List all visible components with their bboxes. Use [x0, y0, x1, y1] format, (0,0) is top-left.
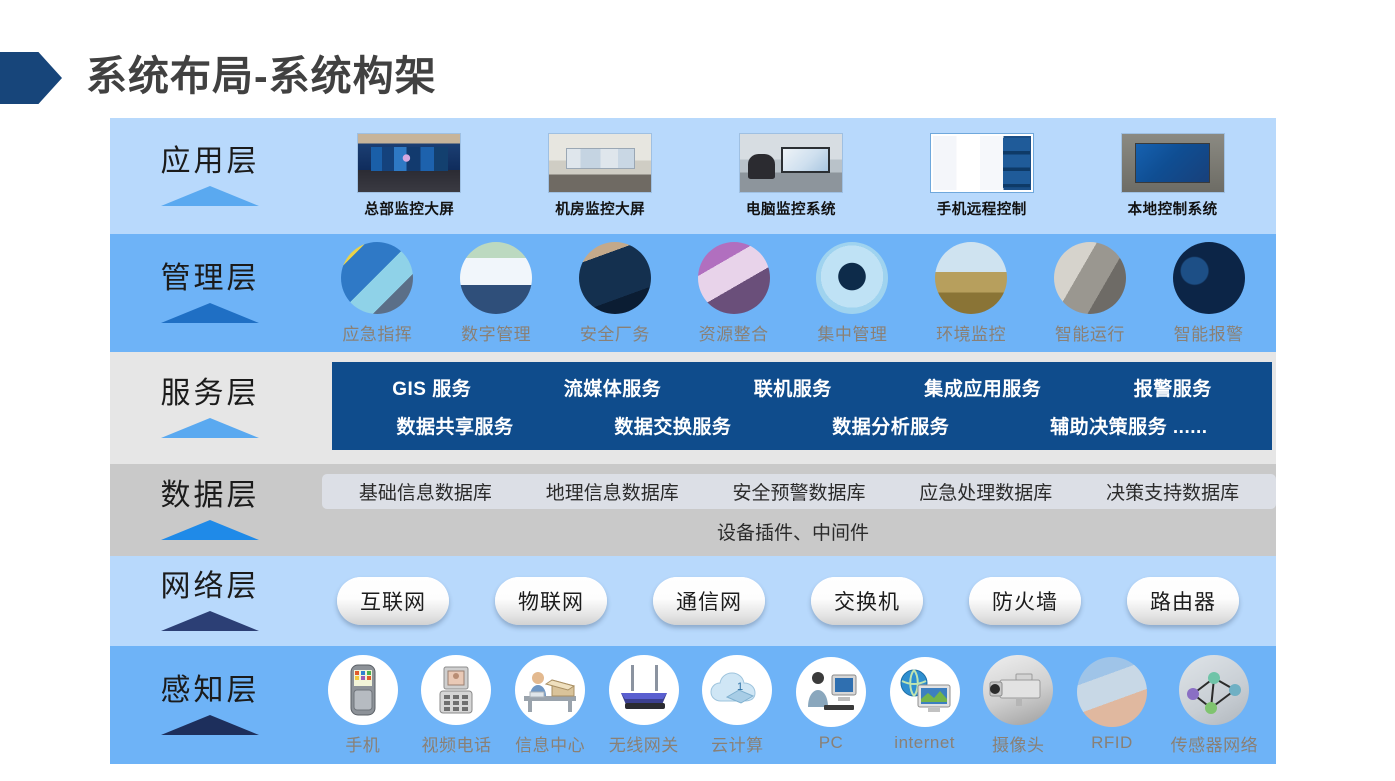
layer-application: 应用层 总部监控大屏 机房监控大屏 电脑监控系统 手机远程 [110, 118, 1276, 234]
service-item[interactable]: 数据交换服务 [614, 412, 731, 439]
app-item[interactable]: 本地控制系统 [1088, 133, 1258, 219]
safety-facility-icon [579, 242, 651, 314]
service-item[interactable]: 辅助决策服务 ...... [1050, 412, 1207, 439]
database-item[interactable]: 安全预警数据库 [732, 478, 865, 505]
perception-item[interactable]: 无线网关 [609, 655, 679, 756]
app-item[interactable]: 机房监控大屏 [515, 133, 685, 219]
network-pill[interactable]: 路由器 [1127, 577, 1239, 625]
internet-globe-icon [890, 657, 960, 727]
database-item[interactable]: 地理信息数据库 [546, 478, 679, 505]
network-pill[interactable]: 防火墙 [969, 577, 1081, 625]
app-item-label: 手机远程控制 [937, 198, 1027, 219]
perception-item[interactable]: 摄像头 [983, 655, 1053, 756]
perception-item-label: 信息中心 [515, 731, 585, 756]
mgmt-item[interactable]: 智能运行 [1054, 242, 1126, 345]
video-phone-icon [421, 655, 491, 725]
network-pill[interactable]: 交换机 [811, 577, 923, 625]
mgmt-item-label: 应急指挥 [342, 320, 412, 345]
app-item[interactable]: 电脑监控系统 [706, 133, 876, 219]
layer-network-label: 网络层 [161, 571, 260, 603]
service-box: GIS 服务 流媒体服务 联机服务 集成应用服务 报警服务 数据共享服务 数据交… [332, 362, 1272, 450]
layer-management-label: 管理层 [161, 263, 260, 295]
architecture-diagram: 应用层 总部监控大屏 机房监控大屏 电脑监控系统 手机远程 [110, 118, 1276, 764]
perception-item-label: PC [819, 733, 844, 753]
environment-monitor-icon [935, 242, 1007, 314]
perception-item-label: internet [894, 733, 955, 753]
database-box: 基础信息数据库 地理信息数据库 安全预警数据库 应急处理数据库 决策支持数据库 [322, 474, 1276, 509]
service-item[interactable]: 联机服务 [754, 374, 832, 401]
service-item[interactable]: 流媒体服务 [564, 374, 662, 401]
mgmt-item[interactable]: 资源整合 [698, 242, 770, 345]
layer-service-triangle-icon [161, 418, 259, 438]
wireless-gateway-icon [609, 655, 679, 725]
app-item-label: 总部监控大屏 [364, 198, 454, 219]
hmi-panel-icon [1121, 133, 1225, 193]
app-item[interactable]: 手机远程控制 [897, 133, 1067, 219]
network-pill[interactable]: 物联网 [495, 577, 607, 625]
title-arrow-icon [0, 52, 62, 104]
layer-data-label-group: 数据层 [110, 464, 310, 556]
perception-item-label: 手机 [345, 731, 380, 756]
layer-perception-content: 手机 [310, 646, 1276, 764]
service-item[interactable]: 数据分析服务 [832, 412, 949, 439]
mgmt-item[interactable]: 安全厂务 [579, 242, 651, 345]
layer-application-label: 应用层 [161, 146, 260, 178]
layer-perception-label-group: 感知层 [110, 646, 310, 764]
page-title: 系统布局-系统构架 [86, 47, 437, 105]
service-item[interactable]: GIS 服务 [392, 374, 471, 401]
cloud-computing-icon: 1 [702, 655, 772, 725]
digital-management-icon [460, 242, 532, 314]
smart-alarm-icon [1173, 242, 1245, 314]
layer-management-content: 应急指挥 数字管理 安全厂务 资源整合 集中管理 [310, 234, 1276, 352]
layer-data-label: 数据层 [161, 480, 260, 512]
layer-perception: 感知层 手机 [110, 646, 1276, 764]
layer-data-content: 基础信息数据库 地理信息数据库 安全预警数据库 应急处理数据库 决策支持数据库 … [310, 464, 1276, 556]
perception-item-label: 无线网关 [609, 731, 679, 756]
control-room-big-screen-icon [357, 133, 461, 193]
mgmt-item[interactable]: 智能报警 [1173, 242, 1245, 345]
mgmt-item[interactable]: 数字管理 [460, 242, 532, 345]
perception-item-label: 传感器网络 [1171, 731, 1259, 756]
perception-item-label: RFID [1091, 733, 1133, 753]
layer-network-triangle-icon [161, 611, 259, 631]
perception-item[interactable]: RFID [1077, 657, 1147, 753]
mgmt-item-label: 集中管理 [817, 320, 887, 345]
perception-item[interactable]: 信息中心 [515, 655, 585, 756]
layer-network-content: 互联网 物联网 通信网 交换机 防火墙 路由器 [310, 556, 1276, 646]
layer-management: 管理层 应急指挥 数字管理 安全厂务 资源整合 [110, 234, 1276, 352]
layer-service-content: GIS 服务 流媒体服务 联机服务 集成应用服务 报警服务 数据共享服务 数据交… [310, 352, 1276, 464]
layer-network: 网络层 互联网 物联网 通信网 交换机 防火墙 路由器 [110, 556, 1276, 646]
mgmt-item[interactable]: 环境监控 [935, 242, 1007, 345]
layer-application-label-group: 应用层 [110, 118, 310, 234]
service-item[interactable]: 报警服务 [1134, 374, 1212, 401]
service-item[interactable]: 数据共享服务 [396, 412, 513, 439]
perception-item-label: 摄像头 [992, 731, 1045, 756]
sensor-network-icon [1179, 655, 1249, 725]
perception-item[interactable]: 1 云计算 [702, 655, 772, 756]
app-item-label: 本地控制系统 [1128, 198, 1218, 219]
app-item-label: 机房监控大屏 [555, 198, 645, 219]
layer-service: 服务层 GIS 服务 流媒体服务 联机服务 集成应用服务 报警服务 数据共享服务… [110, 352, 1276, 464]
database-item[interactable]: 应急处理数据库 [919, 478, 1052, 505]
server-room-screen-icon [548, 133, 652, 193]
layer-application-triangle-icon [161, 186, 259, 206]
network-pill[interactable]: 通信网 [653, 577, 765, 625]
middleware-label: 设备插件、中间件 [310, 518, 1276, 545]
svg-text:1: 1 [737, 681, 743, 693]
service-item[interactable]: 集成应用服务 [924, 374, 1041, 401]
layer-data-triangle-icon [161, 520, 259, 540]
app-item-label: 电脑监控系统 [746, 198, 836, 219]
database-item[interactable]: 决策支持数据库 [1106, 478, 1239, 505]
service-row-2: 数据共享服务 数据交换服务 数据分析服务 辅助决策服务 ...... [332, 406, 1272, 444]
layer-network-label-group: 网络层 [110, 556, 310, 646]
layer-perception-triangle-icon [161, 715, 259, 735]
rfid-icon [1077, 657, 1147, 727]
mgmt-item[interactable]: 集中管理 [816, 242, 888, 345]
perception-item[interactable]: 视频电话 [421, 655, 491, 756]
app-item[interactable]: 总部监控大屏 [324, 133, 494, 219]
mgmt-item-label: 智能报警 [1174, 320, 1244, 345]
mgmt-item[interactable]: 应急指挥 [341, 242, 413, 345]
perception-item-label: 云计算 [711, 731, 764, 756]
mgmt-item-label: 安全厂务 [580, 320, 650, 345]
perception-item[interactable]: 传感器网络 [1171, 655, 1259, 756]
perception-item[interactable]: PC [796, 657, 866, 753]
layer-management-label-group: 管理层 [110, 234, 310, 352]
layer-management-triangle-icon [161, 303, 259, 323]
pc-icon [796, 657, 866, 727]
perception-item-label: 视频电话 [421, 731, 491, 756]
layer-data: 数据层 基础信息数据库 地理信息数据库 安全预警数据库 应急处理数据库 决策支持… [110, 464, 1276, 556]
mgmt-item-label: 资源整合 [699, 320, 769, 345]
perception-item[interactable]: 手机 [328, 655, 398, 756]
mobile-phone-icon [328, 655, 398, 725]
database-item[interactable]: 基础信息数据库 [359, 478, 492, 505]
service-row-1: GIS 服务 流媒体服务 联机服务 集成应用服务 报警服务 [332, 368, 1272, 406]
desktop-monitoring-icon [739, 133, 843, 193]
information-center-icon [515, 655, 585, 725]
layer-service-label: 服务层 [161, 378, 260, 410]
central-management-icon [816, 242, 888, 314]
network-pill[interactable]: 互联网 [337, 577, 449, 625]
mgmt-item-label: 数字管理 [461, 320, 531, 345]
mgmt-item-label: 智能运行 [1055, 320, 1125, 345]
mgmt-item-label: 环境监控 [936, 320, 1006, 345]
layer-perception-label: 感知层 [161, 675, 260, 707]
smart-operation-icon [1054, 242, 1126, 314]
title-bar: 系统布局-系统构架 [0, 47, 1395, 109]
camera-icon [983, 655, 1053, 725]
emergency-command-icon [341, 242, 413, 314]
mobile-remote-control-icon [930, 133, 1034, 193]
perception-item[interactable]: internet [890, 657, 960, 753]
layer-service-label-group: 服务层 [110, 352, 310, 464]
layer-application-content: 总部监控大屏 机房监控大屏 电脑监控系统 手机远程控制 本地控制系统 [310, 118, 1276, 234]
resource-integration-icon [698, 242, 770, 314]
